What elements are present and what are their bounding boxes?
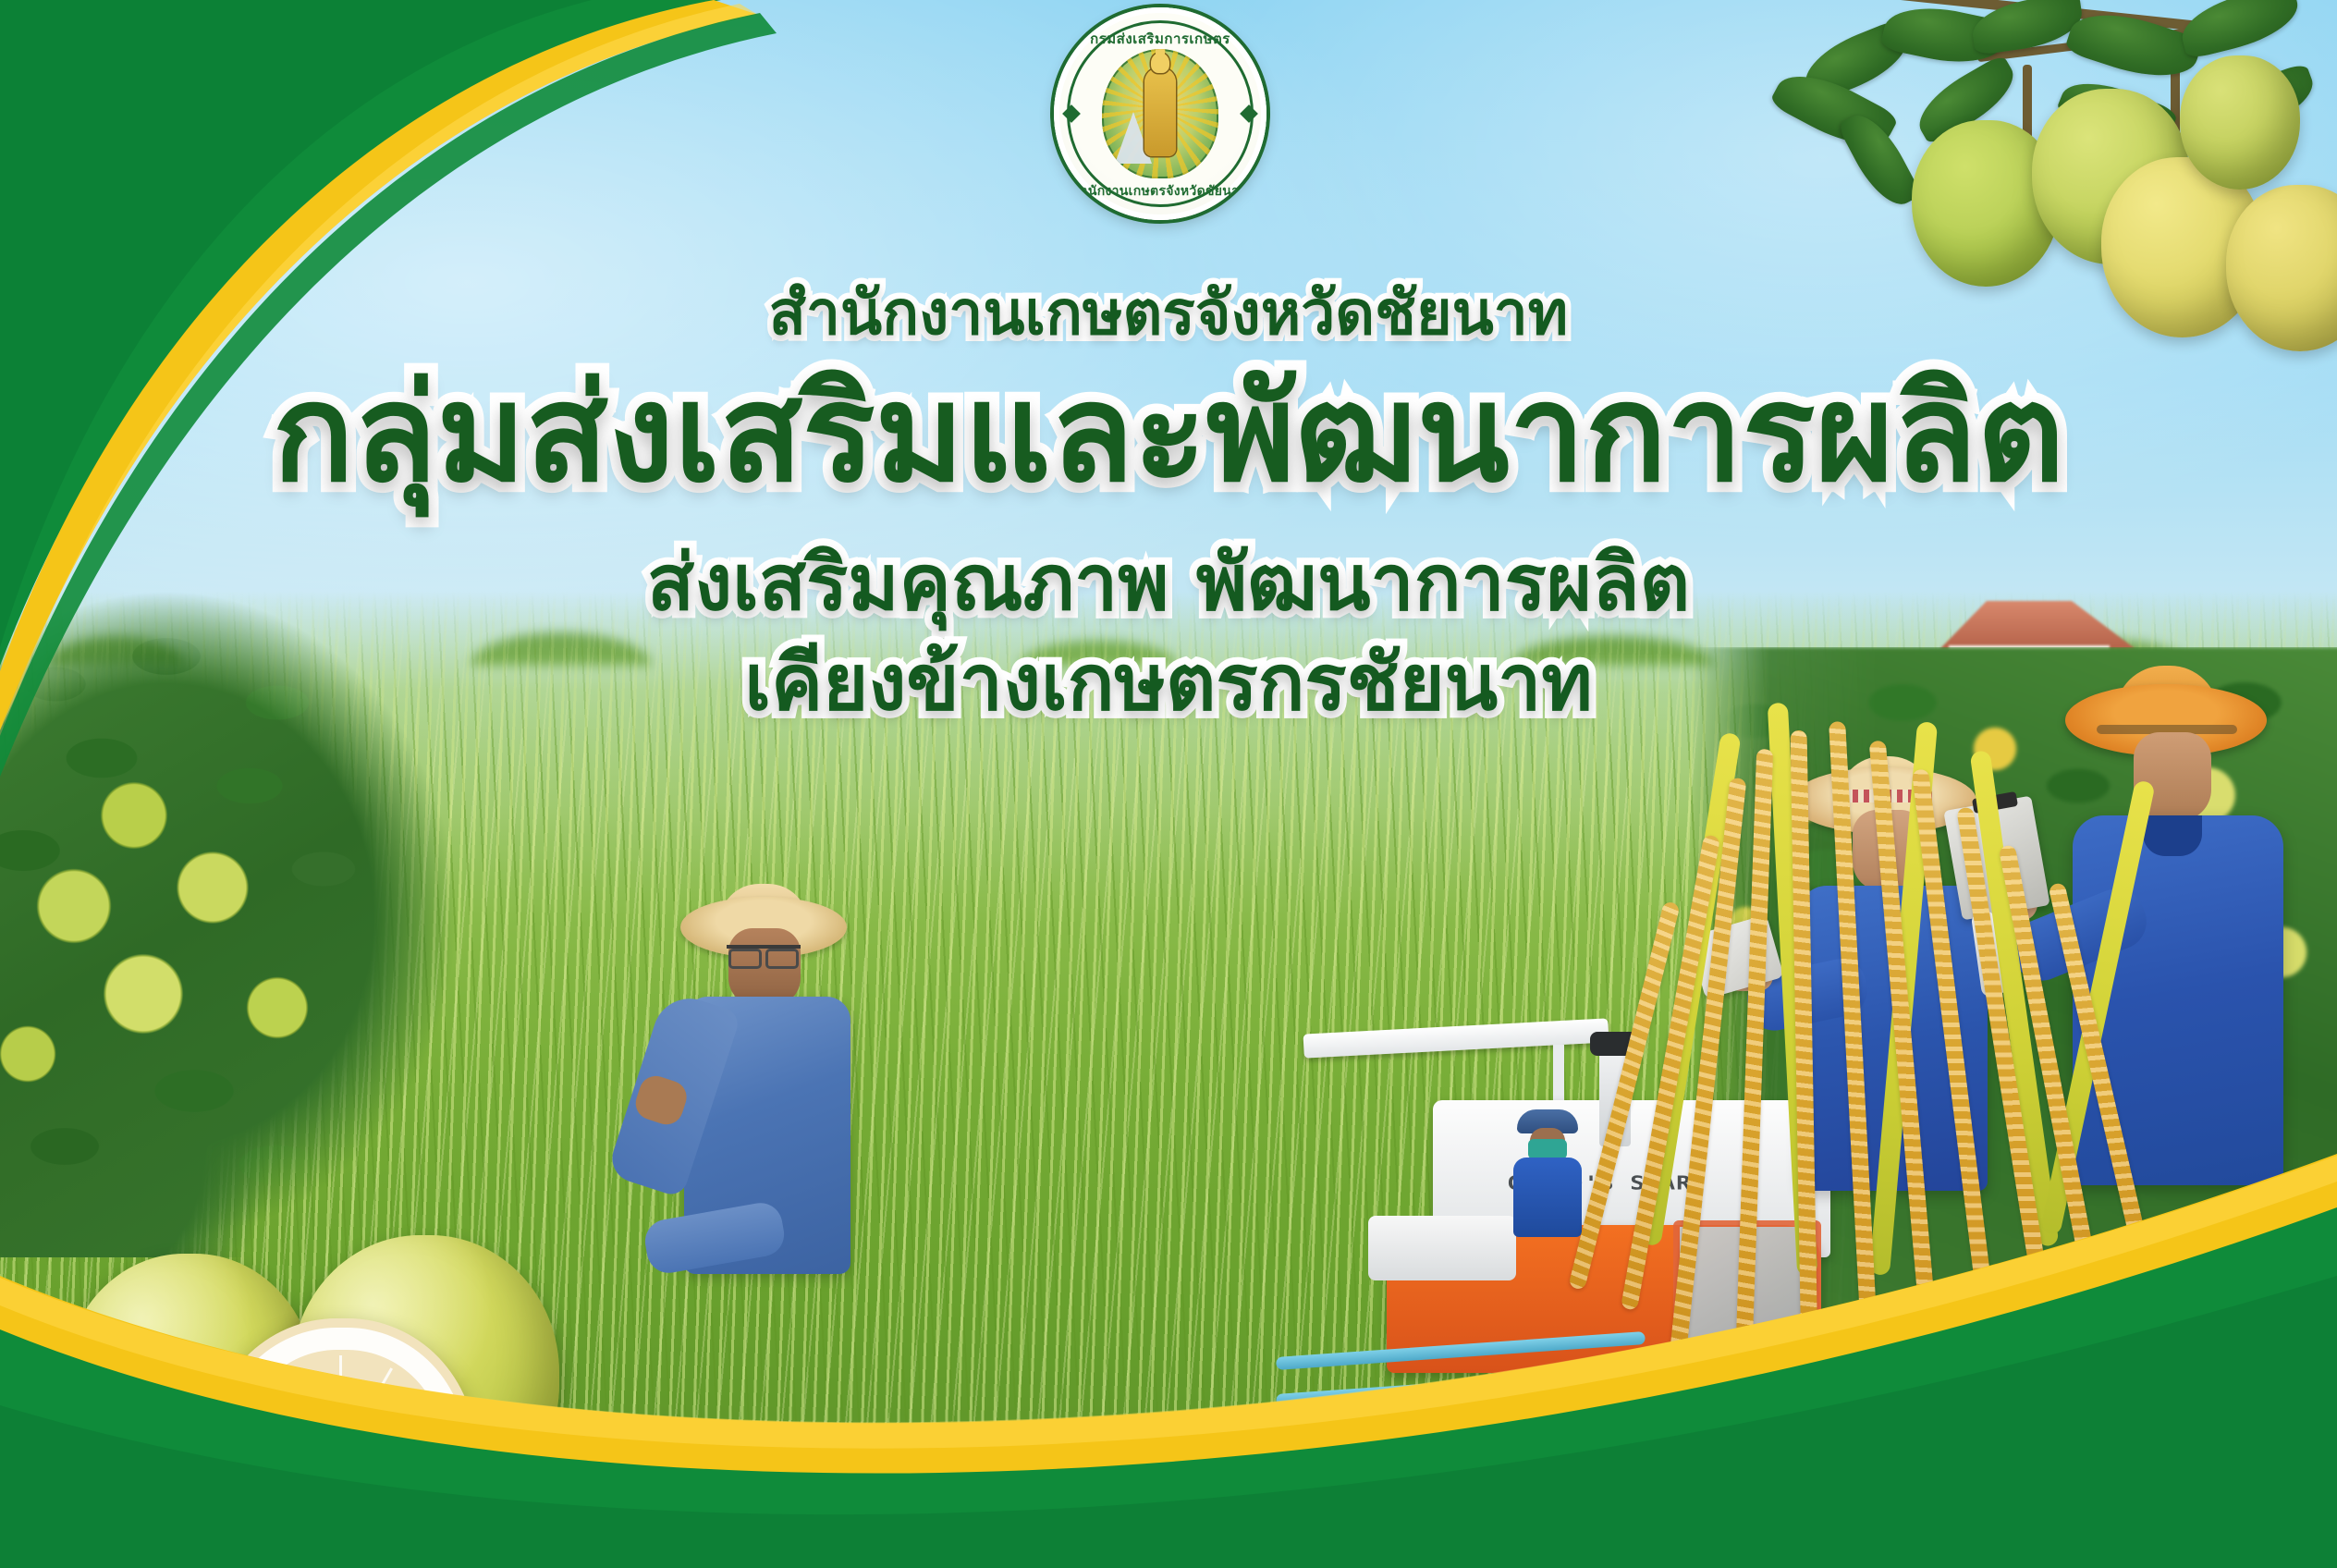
poster-banner: COMBO'S STAR	[0, 0, 2337, 1568]
pomelo-fruit	[2180, 55, 2300, 190]
poster-text-block: สำนักงานเกษตรจังหวัดชัยนาท กลุ่มส่งเสริม…	[0, 277, 2337, 732]
agency-seal-logo: กรมส่งเสริมการเกษตร สำนักงานเกษตรจังหวัด…	[1054, 7, 1266, 220]
tagline-line-2: เคียงข้างเกษตรกรชัยนาท	[0, 633, 2337, 733]
driver-face-mask	[1528, 1139, 1567, 1159]
seal-emblem	[1102, 49, 1218, 178]
rice-spikes-cluster	[1644, 721, 2198, 1535]
farmer-picking-pomelo	[610, 888, 887, 1405]
pomelo-segment-line	[240, 1457, 342, 1460]
harvester-reel	[1276, 1341, 1673, 1424]
farmer-hand	[631, 1072, 691, 1129]
pomelo-leaf	[2175, 0, 2304, 60]
pomelo-half-slice	[208, 1318, 476, 1568]
rice-spike	[1734, 749, 1773, 1396]
pomelo-segment-line	[339, 1355, 342, 1457]
organization-name: สำนักงานเกษตรจังหวัดชัยนาท	[0, 277, 2337, 349]
page-title: กลุ่มส่งเสริมและพัฒนาการผลิต	[0, 359, 2337, 510]
rice-spike	[1829, 721, 1882, 1424]
farmer-eyeglasses	[727, 945, 801, 960]
seal-bottom-text: สำนักงานเกษตรจังหวัดชัยนาท	[1054, 181, 1266, 202]
pomelo-fruits-bottom-left	[65, 1217, 638, 1568]
pomelo-segment-line	[342, 1457, 345, 1559]
driver-torso	[1513, 1158, 1582, 1237]
harvester-driver	[1502, 1109, 1590, 1234]
tagline-line-1: ส่งเสริมคุณภาพ พัฒนาการผลิต	[0, 533, 2337, 633]
seal-top-text: กรมส่งเสริมการเกษตร	[1054, 28, 1266, 50]
rice-leaf-blade	[2039, 779, 2155, 1236]
deity-figure-icon	[1144, 67, 1176, 156]
pomelo-segment-line	[342, 1454, 444, 1457]
harvester-header-unit	[1368, 1216, 1516, 1280]
